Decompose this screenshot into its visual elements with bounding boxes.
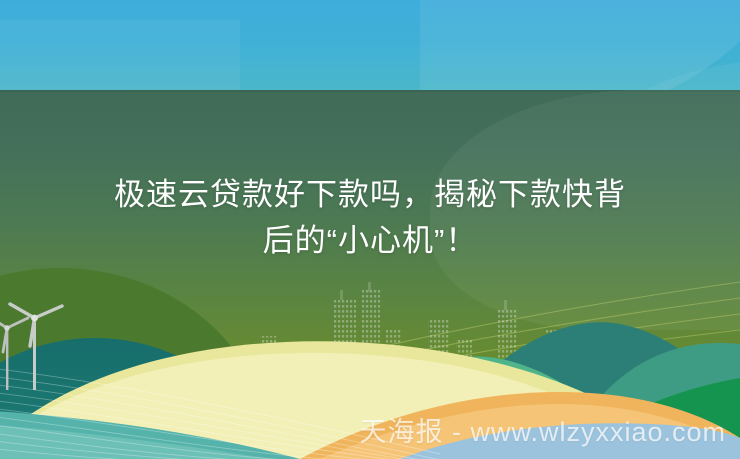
horizon-seam: [0, 90, 740, 92]
title-line-2: 后的“小心机”！: [0, 218, 740, 264]
poster-title: 极速云贷款好下款吗，揭秘下款快背 后的“小心机”！: [0, 172, 740, 264]
poster-canvas: 极速云贷款好下款吗，揭秘下款快背 后的“小心机”！ 天海报 - www.wlzy…: [0, 0, 740, 459]
title-line-1: 极速云贷款好下款吗，揭秘下款快背: [0, 172, 740, 218]
watermark-text: 天海报 - www.wlzyxxiao.com: [359, 410, 726, 449]
wind-turbine-icon: [0, 312, 32, 390]
